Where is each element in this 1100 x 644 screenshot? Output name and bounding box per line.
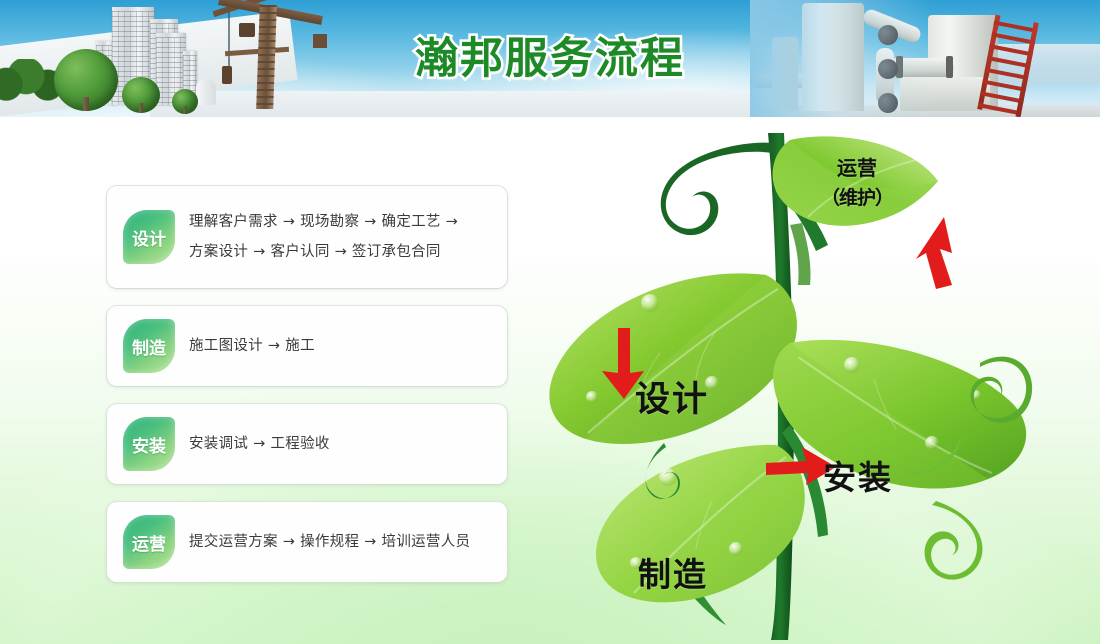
leaf-label-manufacture: 制造 (638, 548, 708, 596)
process-card-manufacture[interactable]: 制造 施工图设计 → 施工 (107, 306, 507, 386)
leaf-label-operation-line1: 运营 (837, 156, 877, 180)
page-title: 瀚邦服务流程 (0, 24, 1100, 86)
ground-strip (150, 91, 770, 117)
tree-icon (172, 89, 198, 114)
leaf-label-design: 设计 (635, 371, 709, 422)
tree-trunk (83, 97, 89, 111)
process-card-line: 方案设计 → 客户认同 → 签订承包合同 (189, 237, 458, 267)
tree-trunk (184, 106, 187, 114)
process-card-installation[interactable]: 安装 安装调试 → 工程验收 (107, 404, 507, 484)
leaf-badge-manufacture: 制造 (123, 319, 175, 373)
process-card-line: 理解客户需求 → 现场勘察 → 确定工艺 → (189, 207, 458, 237)
leaf-label-operation-line2: （维护） (802, 183, 912, 213)
page-banner: 瀚邦服务流程 (0, 0, 1100, 117)
leaf-badge-operation: 运营 (123, 515, 175, 569)
leaf-badge-label: 设计 (132, 225, 166, 250)
process-card-text: 提交运营方案 → 操作规程 → 培训运营人员 (189, 527, 470, 557)
process-card-operation[interactable]: 运营 提交运营方案 → 操作规程 → 培训运营人员 (107, 502, 507, 582)
tree-trunk (139, 103, 143, 113)
leaf-badge-installation: 安装 (123, 417, 175, 471)
process-card-list: 设计 理解客户需求 → 现场勘察 → 确定工艺 → 方案设计 → 客户认同 → … (107, 186, 507, 600)
process-card-line: 施工图设计 → 施工 (189, 331, 315, 361)
process-card-line: 提交运营方案 → 操作规程 → 培训运营人员 (189, 527, 470, 557)
leaf-label-operation: 运营 （维护） (802, 153, 912, 213)
leaf-label-installation: 安装 (823, 451, 893, 499)
process-card-design[interactable]: 设计 理解客户需求 → 现场勘察 → 确定工艺 → 方案设计 → 客户认同 → … (107, 186, 507, 288)
process-card-line: 安装调试 → 工程验收 (189, 429, 330, 459)
leaf-badge-design: 设计 (123, 210, 175, 264)
service-process-page: 瀚邦服务流程 设计 理解客户需求 → 现场勘察 → 确定工艺 → 方案设计 → … (0, 0, 1100, 644)
process-card-text: 施工图设计 → 施工 (189, 331, 315, 361)
process-card-text: 理解客户需求 → 现场勘察 → 确定工艺 → 方案设计 → 客户认同 → 签订承… (189, 207, 458, 267)
leaf-process-diagram: 设计 安装 制造 运营 （维护） (540, 125, 1100, 644)
process-card-text: 安装调试 → 工程验收 (189, 429, 330, 459)
leaf-badge-label: 制造 (132, 334, 166, 359)
leaf-badge-label: 安装 (132, 432, 166, 457)
leaf-badge-label: 运营 (132, 530, 166, 555)
